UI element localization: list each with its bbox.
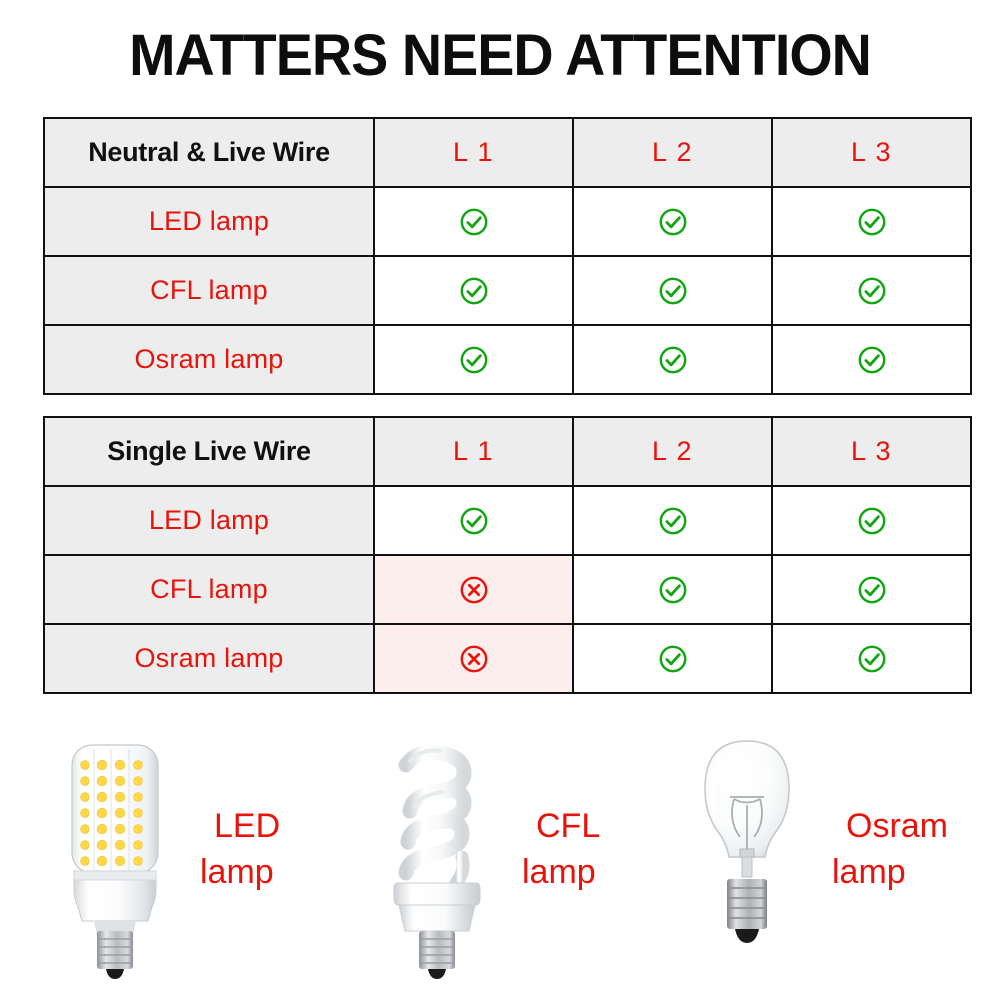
gallery-label-osram-line2: lamp bbox=[832, 850, 948, 896]
check-circle-icon bbox=[857, 506, 887, 536]
cell-cfl-l3 bbox=[772, 555, 971, 624]
cell-cfl-l2 bbox=[573, 555, 772, 624]
column-header-l1: L 1 bbox=[374, 417, 573, 486]
check-circle-icon bbox=[658, 644, 688, 674]
cell-osram-l3 bbox=[772, 624, 971, 693]
gallery-label-cfl-line1: CFL bbox=[522, 804, 600, 850]
incandescent-bulb-icon bbox=[672, 719, 822, 989]
gallery-label-osram-line1: Osram bbox=[832, 804, 948, 850]
cell-osram-l3 bbox=[772, 325, 971, 394]
row-label-led-lamp: LED lamp bbox=[44, 187, 374, 256]
check-circle-icon bbox=[857, 207, 887, 237]
cell-osram-l1 bbox=[374, 624, 573, 693]
cell-osram-l2 bbox=[573, 624, 772, 693]
check-circle-icon bbox=[658, 575, 688, 605]
gallery-label-led: LED lamp bbox=[200, 804, 280, 896]
cell-osram-l2 bbox=[573, 325, 772, 394]
cell-led-l3 bbox=[772, 486, 971, 555]
check-circle-icon bbox=[857, 575, 887, 605]
table-row: Osram lamp bbox=[44, 325, 971, 394]
cell-cfl-l3 bbox=[772, 256, 971, 325]
cell-led-l1 bbox=[374, 187, 573, 256]
table-row: Osram lamp bbox=[44, 624, 971, 693]
cell-cfl-l1 bbox=[374, 256, 573, 325]
gallery-label-led-line1: LED bbox=[200, 804, 280, 850]
table-row: CFL lamp bbox=[44, 256, 971, 325]
gallery-item-cfl: CFL lamp bbox=[362, 700, 680, 1000]
row-label-osram-lamp: Osram lamp bbox=[44, 624, 374, 693]
check-circle-icon bbox=[459, 207, 489, 237]
check-circle-icon bbox=[857, 644, 887, 674]
check-circle-icon bbox=[857, 276, 887, 306]
cfl-spiral-bulb-icon bbox=[362, 719, 512, 989]
gallery-label-osram: Osram lamp bbox=[832, 804, 948, 896]
table-title-cell: Single Live Wire bbox=[44, 417, 374, 486]
table-row: LED lamp bbox=[44, 187, 971, 256]
bulb-gallery: LED lamp bbox=[0, 700, 1000, 1000]
led-corn-bulb-icon bbox=[40, 719, 190, 989]
column-header-l3: L 3 bbox=[772, 118, 971, 187]
gallery-label-cfl-line2: lamp bbox=[522, 850, 600, 896]
check-circle-icon bbox=[658, 276, 688, 306]
check-circle-icon bbox=[857, 345, 887, 375]
cell-led-l1 bbox=[374, 486, 573, 555]
cell-led-l2 bbox=[573, 187, 772, 256]
check-circle-icon bbox=[658, 345, 688, 375]
check-circle-icon bbox=[459, 345, 489, 375]
row-label-osram-lamp: Osram lamp bbox=[44, 325, 374, 394]
check-circle-icon bbox=[459, 506, 489, 536]
column-header-l1: L 1 bbox=[374, 118, 573, 187]
cell-led-l3 bbox=[772, 187, 971, 256]
cell-cfl-l1 bbox=[374, 555, 573, 624]
table-header-row: Single Live Wire L 1 L 2 L 3 bbox=[44, 417, 971, 486]
table-title-cell: Neutral & Live Wire bbox=[44, 118, 374, 187]
check-circle-icon bbox=[658, 506, 688, 536]
column-header-l2: L 2 bbox=[573, 417, 772, 486]
cell-osram-l1 bbox=[374, 325, 573, 394]
column-header-l2: L 2 bbox=[573, 118, 772, 187]
gallery-item-osram: Osram lamp bbox=[672, 700, 990, 1000]
table-single-live-wire: Single Live Wire L 1 L 2 L 3 LED lamp CF… bbox=[43, 416, 972, 694]
table-row: CFL lamp bbox=[44, 555, 971, 624]
cross-circle-icon bbox=[459, 644, 489, 674]
gallery-label-led-line2: lamp bbox=[200, 850, 280, 896]
table-neutral-live-wire: Neutral & Live Wire L 1 L 2 L 3 LED lamp… bbox=[43, 117, 972, 395]
table-header-row: Neutral & Live Wire L 1 L 2 L 3 bbox=[44, 118, 971, 187]
check-circle-icon bbox=[459, 276, 489, 306]
row-label-led-lamp: LED lamp bbox=[44, 486, 374, 555]
cell-led-l2 bbox=[573, 486, 772, 555]
column-header-l3: L 3 bbox=[772, 417, 971, 486]
row-label-cfl-lamp: CFL lamp bbox=[44, 555, 374, 624]
page-title: MATTERS NEED ATTENTION bbox=[20, 22, 980, 89]
row-label-cfl-lamp: CFL lamp bbox=[44, 256, 374, 325]
gallery-label-cfl: CFL lamp bbox=[522, 804, 600, 896]
cross-circle-icon bbox=[459, 575, 489, 605]
table-row: LED lamp bbox=[44, 486, 971, 555]
check-circle-icon bbox=[658, 207, 688, 237]
gallery-item-led: LED lamp bbox=[40, 700, 358, 1000]
cell-cfl-l2 bbox=[573, 256, 772, 325]
